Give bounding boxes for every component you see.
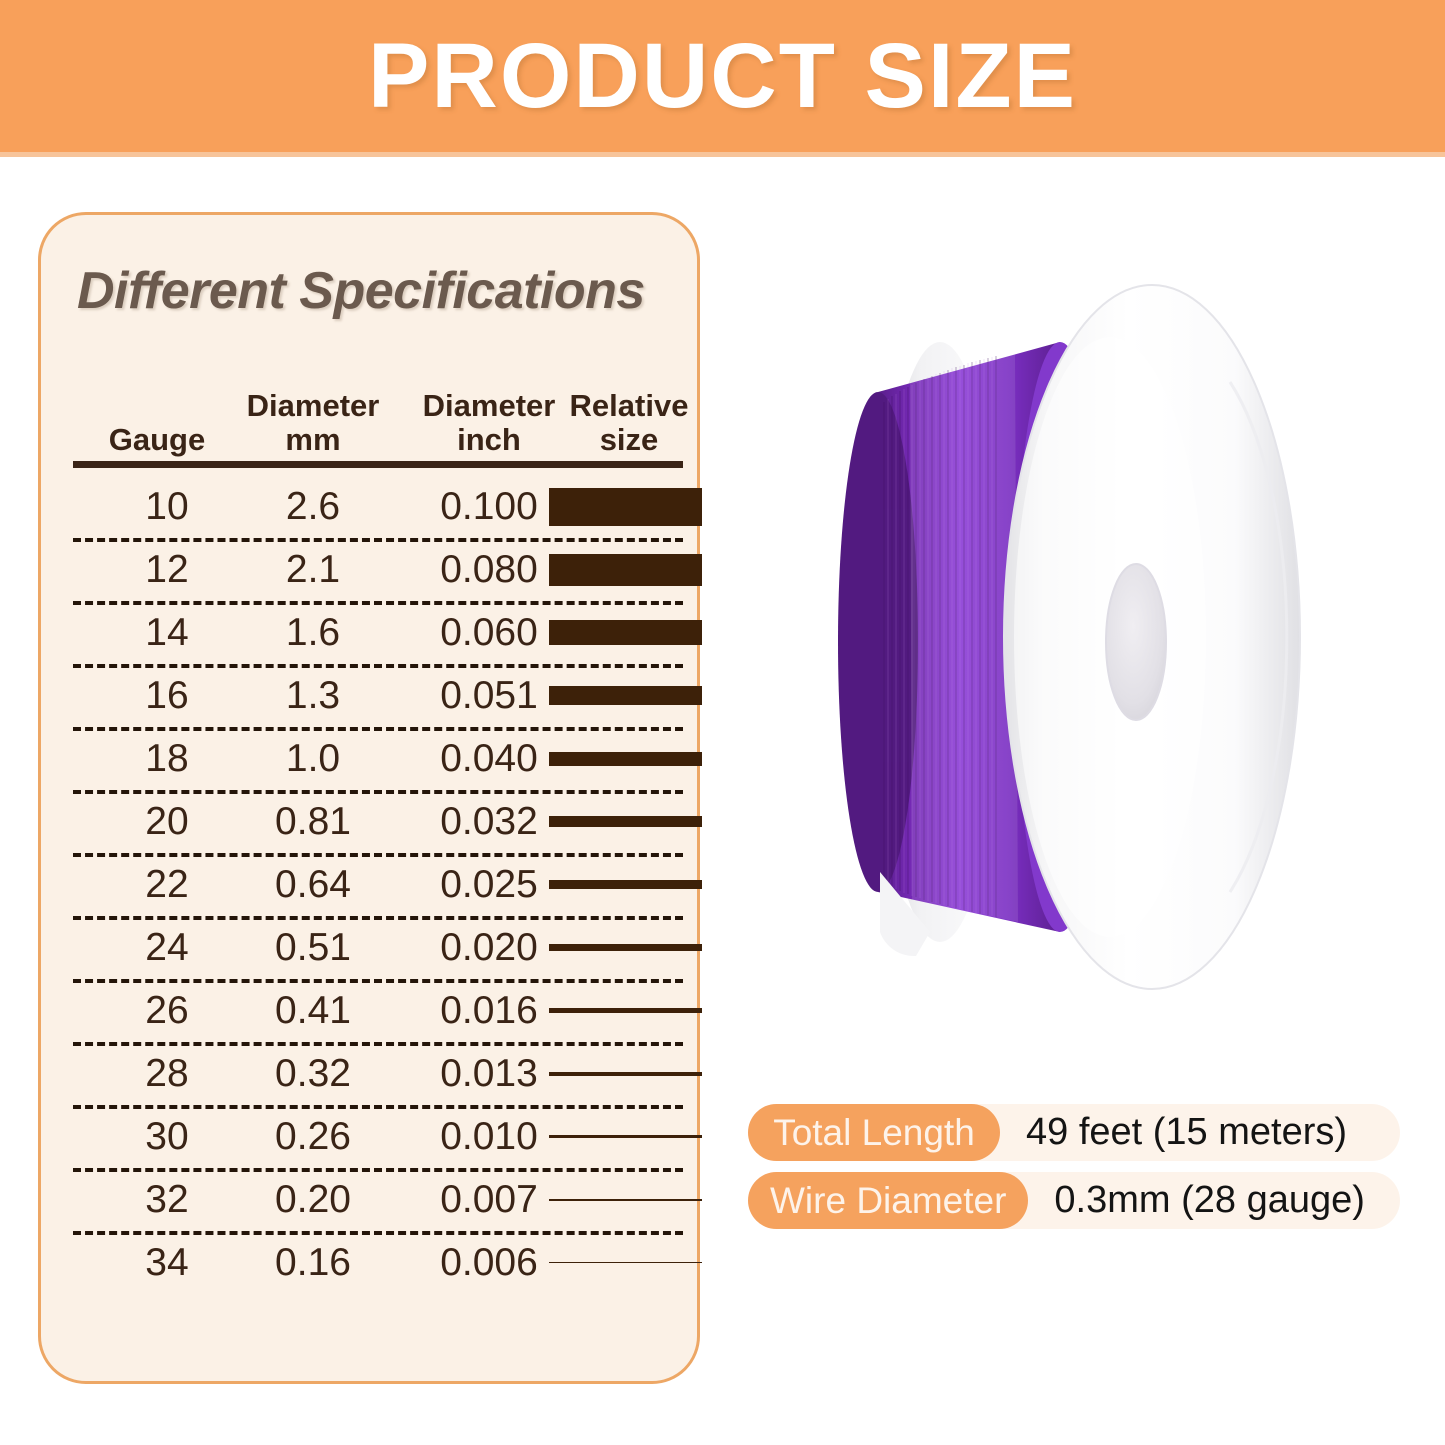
product-photo xyxy=(760,232,1420,1052)
column-header-diameter-mm: Diameter mm xyxy=(213,389,413,457)
cell-diameter-mm: 0.20 xyxy=(213,1168,413,1231)
table-row: 200.810.032 xyxy=(41,790,703,853)
relative-size-bar xyxy=(549,1008,702,1013)
gauge-table: Gauge Diameter mm Diameter inch Relative… xyxy=(41,365,703,457)
column-header-gauge-label: Gauge xyxy=(109,422,205,457)
cell-diameter-mm: 0.41 xyxy=(213,979,413,1042)
cell-relative-size xyxy=(530,1231,721,1294)
spec-label-pill: Total Length xyxy=(748,1104,1000,1161)
relative-size-bar xyxy=(549,1262,702,1263)
relative-size-bar xyxy=(549,816,702,827)
spec-label-pill: Wire Diameter xyxy=(748,1172,1028,1229)
relative-size-bar xyxy=(549,488,702,526)
cell-relative-size xyxy=(530,727,721,790)
cell-relative-size xyxy=(530,1168,721,1231)
cell-relative-size xyxy=(530,538,721,601)
cell-relative-size xyxy=(530,1042,721,1105)
cell-relative-size xyxy=(530,475,721,538)
spec-value: 0.3mm (28 gauge) xyxy=(1028,1172,1400,1229)
cell-relative-size xyxy=(530,853,721,916)
relative-size-bar xyxy=(549,554,702,586)
cell-diameter-mm: 0.26 xyxy=(213,1105,413,1168)
table-row: 260.410.016 xyxy=(41,979,703,1042)
relative-size-bar xyxy=(549,686,702,705)
relative-size-bar xyxy=(549,620,702,645)
cell-diameter-mm: 0.16 xyxy=(213,1231,413,1294)
table-row: 280.320.013 xyxy=(41,1042,703,1105)
cell-diameter-mm: 0.51 xyxy=(213,916,413,979)
wire-spool-illustration xyxy=(760,232,1420,1052)
table-row: 122.10.080 xyxy=(41,538,703,601)
cell-diameter-mm: 2.1 xyxy=(213,538,413,601)
table-row: 102.60.100 xyxy=(41,475,703,538)
spec-row: Wire Diameter0.3mm (28 gauge) xyxy=(748,1172,1400,1229)
cell-relative-size xyxy=(530,1105,721,1168)
relative-size-bar xyxy=(549,944,702,951)
cell-relative-size xyxy=(530,979,721,1042)
table-body: 102.60.100122.10.080141.60.060161.30.051… xyxy=(41,475,703,1294)
table-row: 161.30.051 xyxy=(41,664,703,727)
cell-diameter-mm: 1.6 xyxy=(213,601,413,664)
table-header-rule xyxy=(73,461,683,468)
cell-diameter-mm: 1.3 xyxy=(213,664,413,727)
relative-size-bar xyxy=(549,752,702,766)
cell-relative-size xyxy=(530,601,721,664)
product-spec-list: Total Length49 feet (15 meters)Wire Diam… xyxy=(748,1104,1400,1240)
cell-diameter-mm: 0.32 xyxy=(213,1042,413,1105)
relative-size-bar xyxy=(549,1199,702,1201)
banner-underline xyxy=(0,152,1445,157)
relative-size-bar xyxy=(549,880,702,889)
card-title: Different Specifications xyxy=(77,261,645,321)
relative-size-bar xyxy=(549,1072,702,1076)
table-row: 320.200.007 xyxy=(41,1168,703,1231)
cell-diameter-mm: 2.6 xyxy=(213,475,413,538)
cell-diameter-mm: 1.0 xyxy=(213,727,413,790)
column-header-relative-size: Relative size xyxy=(549,389,709,457)
column-header-relative-size-line1: Relative xyxy=(549,389,709,423)
table-row: 181.00.040 xyxy=(41,727,703,790)
cell-relative-size xyxy=(530,664,721,727)
spec-row: Total Length49 feet (15 meters) xyxy=(748,1104,1400,1161)
page-title: PRODUCT SIZE xyxy=(0,20,1445,132)
table-header-row: Gauge Diameter mm Diameter inch Relative… xyxy=(41,365,703,457)
table-row: 220.640.025 xyxy=(41,853,703,916)
spec-value: 49 feet (15 meters) xyxy=(1000,1104,1400,1161)
column-header-relative-size-line2: size xyxy=(549,423,709,457)
specifications-card: Different Specifications Gauge Diameter … xyxy=(38,212,700,1384)
table-row: 240.510.020 xyxy=(41,916,703,979)
cell-diameter-mm: 0.64 xyxy=(213,853,413,916)
table-row: 300.260.010 xyxy=(41,1105,703,1168)
cell-relative-size xyxy=(530,916,721,979)
cell-diameter-mm: 0.81 xyxy=(213,790,413,853)
column-header-diameter-mm-line2: mm xyxy=(213,423,413,457)
cell-relative-size xyxy=(530,790,721,853)
table-row: 141.60.060 xyxy=(41,601,703,664)
table-row: 340.160.006 xyxy=(41,1231,703,1294)
relative-size-bar xyxy=(549,1135,702,1138)
column-header-diameter-mm-line1: Diameter xyxy=(213,389,413,423)
